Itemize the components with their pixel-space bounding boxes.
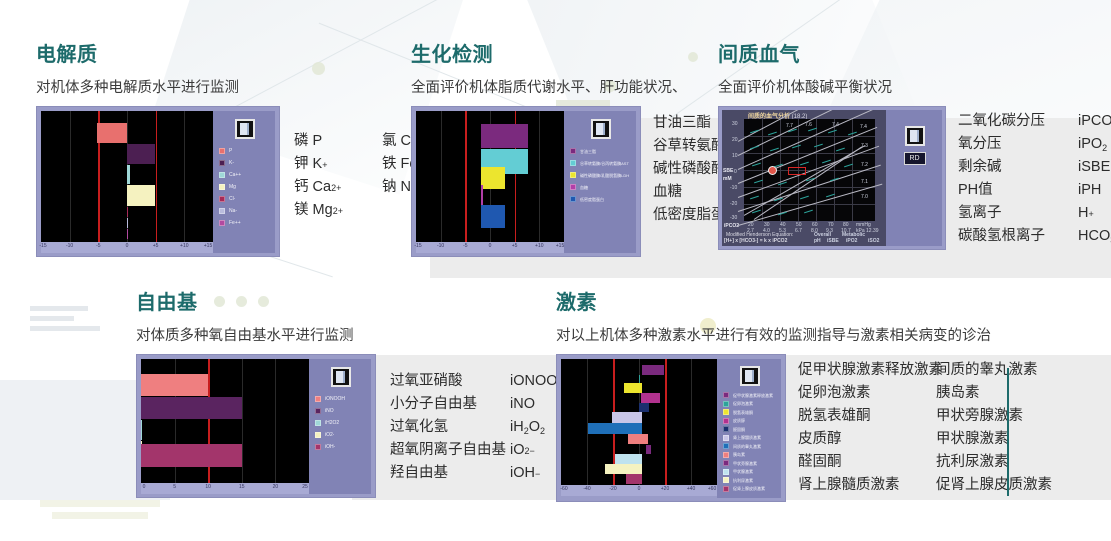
selection-rect[interactable]: [788, 167, 806, 175]
x-axis: -15 -10 -5 0 +5 +10 +15: [41, 242, 213, 253]
legend-swatch-LDL: [570, 196, 576, 202]
scatter-dash: [750, 130, 759, 134]
term-item: 间质的睾丸激素: [936, 359, 1052, 382]
legend-item[interactable]: 促甲状腺激素释放激素: [723, 392, 776, 398]
legend-label: Ca++: [229, 172, 241, 178]
y-tick: -30: [730, 215, 737, 221]
legend-label: iNO: [325, 408, 334, 414]
term-cn: 血糖: [653, 181, 682, 204]
y-tick: -20: [730, 201, 737, 207]
chart-legend: P K- Ca++ Mg Cl- Na- Fe++: [213, 111, 275, 253]
panel-free-radicals: 自由基 对体质多种氧自由基水平进行监测: [136, 286, 568, 498]
chart-legend: 甘油三脂 谷草转氨酶/谷丙转氨酶AST 碱性磷酸酶/乳酸脱氢酶LDH 血糖 低密…: [564, 111, 636, 253]
term-cn: 甲状腺激素: [936, 428, 1009, 451]
bar-P: [97, 123, 127, 143]
scatter-dash: [800, 196, 809, 200]
term-item: 碳酸氢根离子HCO3−: [958, 225, 1111, 248]
chart-legend: iONOOH iNO iH2O2 iO2- iOH-: [309, 359, 371, 494]
legend-swatch-AST: [570, 160, 576, 166]
x-kpa-last: 12.39: [866, 228, 879, 234]
axis-tick: +15: [556, 243, 564, 249]
legend-label: Cl-: [229, 196, 235, 202]
y-tick: 20: [732, 137, 738, 143]
reference-line-low: [465, 111, 467, 242]
term-code: H: [1078, 202, 1088, 225]
panel-biochemistry: 生化检测 全面评价机体脂质代谢水平、肝功能状况、: [411, 38, 740, 257]
bar-INS: [628, 434, 648, 444]
legend-label: 甲状腺激素: [733, 469, 753, 474]
term-code: iO: [510, 439, 525, 462]
chart-widget-biochemistry[interactable]: -15 -10 -5 0 +5 +10 +15 甘油三脂 谷草转氨酶/谷丙转氨酶…: [411, 106, 641, 257]
axis-tick: -10: [437, 243, 444, 249]
axis-tick: 10: [205, 484, 211, 490]
legend-label: 碱性磷酸酶/乳酸脱氢酶LDH: [580, 173, 629, 178]
legend-item[interactable]: iOH-: [315, 444, 366, 450]
document-icon[interactable]: [235, 119, 255, 139]
legend-label: 促甲状腺激素释放激素: [733, 393, 773, 398]
legend-label: iO2-: [325, 432, 334, 438]
legend-item[interactable]: 甲状腺激素: [723, 469, 776, 475]
bar-ACTH: [626, 474, 642, 484]
term-column: 间质的睾丸激素 胰岛素 甲状旁腺激素 甲状腺激素 抗利尿激素 促肾上腺皮质激素: [936, 359, 1052, 497]
term-item: 促卵泡激素: [798, 382, 936, 405]
panel-subtitle: 全面评价机体酸碱平衡状况: [718, 76, 1111, 97]
legend-label: 甘油三脂: [580, 149, 596, 154]
legend-swatch-Mg: [219, 184, 225, 190]
legend-item[interactable]: 谷草转氨酶/谷丙转氨酶AST: [570, 160, 631, 166]
term-item: 磷 P: [294, 130, 360, 153]
legend-item[interactable]: 碱性磷酸酶/乳酸脱氢酶LDH: [570, 172, 631, 178]
ph-isoline-up: [754, 146, 862, 219]
axis-tick: -10: [66, 243, 73, 249]
legend-item[interactable]: 抗利尿激素: [723, 477, 776, 483]
term-cn: 促肾上腺皮质激素: [936, 474, 1052, 497]
term-column: 磷 P 钾 K+ 钙 Ca2+ 镁 Mg2+: [294, 130, 360, 222]
term-cn: 肾上腺髓质激素: [798, 474, 900, 497]
axis-tick: 0: [638, 486, 641, 492]
term-code: Ca: [313, 176, 332, 199]
grid-line: [275, 359, 276, 483]
bar-DHEA: [624, 383, 642, 393]
term-cn: 皮质醇: [798, 428, 842, 451]
chart-legend: RD: [886, 110, 942, 246]
ph-label: 7.2: [861, 162, 868, 168]
term-code: Mg: [313, 199, 333, 222]
legend-label: 胰岛素: [733, 452, 745, 457]
scatter-dash: [804, 210, 813, 214]
legend-label: 血糖: [580, 185, 588, 190]
y-axis-label: SBE: [723, 168, 733, 174]
y-tick: 0: [734, 169, 737, 175]
grid-line: [441, 111, 442, 242]
legend-swatch-iNO: [315, 408, 321, 414]
ph-label: 7.7: [786, 123, 793, 129]
panel-title: 激素: [556, 286, 1052, 315]
axis-tick: +60: [708, 486, 716, 492]
axis-tick: 0: [126, 243, 129, 249]
term-list-free-radicals: 过氧亚硝酸iONOOH 小分子自由基iNO 过氧化氢iH2O2 超氧阴离子自由基…: [376, 354, 568, 485]
term-cn: 铁: [382, 153, 397, 176]
legend-item[interactable]: iO2-: [315, 432, 366, 438]
legend-item[interactable]: iNO: [315, 408, 366, 414]
bar-Na: [127, 218, 128, 228]
term-code: iSBE: [1078, 156, 1110, 179]
x-axis-label: iPCO2: [724, 223, 739, 229]
panel-electrolytes: 电解质 对机体多种电解质水平进行监测: [36, 38, 428, 257]
legend-item[interactable]: 甲状旁腺激素: [723, 460, 776, 466]
legend-swatch-TES: [723, 443, 729, 449]
bar-iONOOH: [141, 374, 208, 396]
axis-tick: 0: [143, 484, 146, 490]
axis-tick: +40: [687, 486, 695, 492]
document-icon[interactable]: [331, 367, 351, 387]
axis-tick: +20: [661, 486, 669, 492]
axis-tick: -5: [463, 243, 467, 249]
term-list-blood-gas: 二氧化碳分压iPCO2 氧分压iPO2 剩余碱iSBE PH值iPH 氢离子H+…: [946, 106, 1111, 248]
legend-label: P: [229, 148, 232, 154]
term-cn: 钙: [294, 176, 309, 199]
panel-title: 生化检测: [411, 38, 740, 67]
bar-GLU: [481, 185, 483, 205]
legend-swatch-GLU: [570, 184, 576, 190]
term-code: iH2O2: [510, 416, 545, 439]
y-tick: 30: [732, 121, 738, 127]
legend-item[interactable]: iH2O2: [315, 420, 366, 426]
document-icon[interactable]: [905, 126, 925, 146]
term-item: PH值iPH: [958, 179, 1111, 202]
bar-ALD: [639, 403, 649, 412]
term-cn: 过氧亚硝酸: [390, 370, 510, 393]
bar-iH2O2: [141, 420, 142, 440]
axis-tick: -40: [583, 486, 590, 492]
legend-label: 甲状旁腺激素: [733, 461, 757, 466]
term-cn: 小分子自由基: [390, 393, 510, 416]
legend-swatch-PTH: [723, 460, 729, 466]
bar-TRH: [642, 365, 664, 375]
legend-label: 低密度脂蛋白: [580, 197, 604, 202]
legend-label: 肾上腺髓质激素: [733, 435, 761, 440]
term-code: iOH: [510, 462, 535, 485]
term-cn: 氯: [382, 130, 397, 153]
term-cn: 脱氢表雄酮: [798, 405, 871, 428]
legend-swatch-ALP: [570, 172, 576, 178]
legend-swatch-FSH: [723, 401, 729, 407]
legend-swatch-P: [219, 148, 225, 154]
term-code: iPO: [1078, 133, 1102, 156]
document-icon[interactable]: [740, 366, 760, 386]
legend-swatch-ADM: [723, 435, 729, 441]
axis-tick: 15: [239, 484, 245, 490]
legend-label: Mg: [229, 184, 236, 190]
bar-ADH: [605, 464, 642, 474]
panel-body: -15 -10 -5 0 +5 +10 +15 P K- Ca++ Mg: [36, 106, 428, 257]
legend-label: K-: [229, 160, 234, 166]
legend-item[interactable]: iONOOH: [315, 396, 366, 402]
term-list-hormones: 促甲状腺激素释放激素 促卵泡激素 脱氢表雄酮 皮质醇 醛固酮 肾上腺髓质激素 间…: [786, 354, 1052, 497]
legend-swatch-Fe: [219, 220, 225, 226]
panel-subtitle: 对体质多种氧自由基水平进行监测: [136, 324, 568, 345]
bar-ADM: [612, 412, 642, 423]
panel-body: 间质的血气分析 (18.2) SBE mM 30 20 10 0 -10 -20…: [718, 106, 1111, 250]
legend-label: 促卵泡激素: [733, 401, 753, 406]
term-item: 脱氢表雄酮: [798, 405, 936, 428]
term-cn: 抗利尿激素: [936, 451, 1009, 474]
legend-swatch-iH2O2: [315, 420, 321, 426]
term-item: 镁 Mg2+: [294, 199, 360, 222]
value-header: iPO2: [846, 238, 857, 244]
term-cn: 胰岛素: [936, 382, 980, 405]
legend-swatch-TSH: [723, 469, 729, 475]
term-cn: 钾: [294, 153, 309, 176]
bar-Cl: [127, 207, 128, 217]
plot-area: -15 -10 -5 0 +5 +10 +15: [41, 111, 213, 253]
bar-TES: [588, 423, 642, 434]
term-item: 甲状腺激素: [936, 428, 1052, 451]
term-cn: 间质的睾丸激素: [936, 359, 1038, 382]
scatter-dash: [752, 163, 761, 167]
y-axis-unit: mM: [723, 176, 732, 182]
x-axis: 0 5 10 15 20 25: [141, 483, 309, 494]
term-cn: 剩余碱: [958, 156, 1078, 179]
bar-TG: [481, 124, 528, 148]
scatter-dash: [750, 196, 759, 200]
bar-plot: [141, 359, 309, 483]
bar-ALP: [481, 167, 505, 189]
legend-swatch-ALD: [723, 426, 729, 432]
legend-label: iOH-: [325, 444, 335, 450]
bar-plot: [41, 111, 213, 242]
legend-label: 谷草转氨酶/谷丙转氨酶AST: [580, 161, 629, 166]
rd-button[interactable]: RD: [904, 152, 926, 165]
term-item: 钾 K+: [294, 153, 360, 176]
legend-label: iH2O2: [325, 420, 339, 426]
legend-item[interactable]: Na-: [219, 208, 270, 214]
term-code: iPCO: [1078, 110, 1111, 133]
legend-item[interactable]: Cl-: [219, 196, 270, 202]
term-list-electrolytes: 磷 P 钾 K+ 钙 Ca2+ 镁 Mg2+ 氯 Cl− 铁 Fe2+ 钠 Na…: [280, 106, 428, 222]
legend-swatch-Cl: [219, 196, 225, 202]
term-item: 过氧亚硝酸iONOOH: [390, 370, 568, 393]
legend-swatch-COR: [723, 418, 729, 424]
legend-swatch-iOH: [315, 444, 321, 450]
axis-tick: +15: [204, 243, 212, 249]
equation-text: [H+] x [HCO3-] = k x iPCO2: [724, 238, 787, 244]
bar-plot: [416, 111, 564, 242]
axis-tick: 25: [302, 484, 308, 490]
term-item: 小分子自由基iNO: [390, 393, 568, 416]
bar-Fe: [127, 229, 128, 239]
term-cn: PH值: [958, 179, 1078, 202]
panel-body: 0 5 10 15 20 25 iONOOH iNO iH2O2 iO2- iO…: [136, 354, 568, 498]
legend-label: 脱氢表雄酮: [733, 410, 753, 415]
panel-hormones: 激素 对以上机体多种激素水平进行有效的监测指导与激素相关病变的诊治: [556, 286, 1052, 502]
ph-label: 7.4: [832, 122, 839, 128]
grid-line: [587, 359, 588, 485]
bar-Mg: [127, 185, 155, 206]
axis-tick: -20: [609, 486, 616, 492]
legend-label: 醛固酮: [733, 427, 745, 432]
term-code: P: [313, 130, 323, 153]
term-item: 肾上腺髓质激素: [798, 474, 936, 497]
legend-item[interactable]: 醛固酮: [723, 426, 776, 432]
plot-area: 0 5 10 15 20 25: [141, 359, 309, 494]
scatter-dash: [800, 162, 809, 166]
bar-COR: [641, 393, 660, 403]
term-item: 剩余碱iSBE: [958, 156, 1111, 179]
chart-legend: 促甲状腺激素释放激素 促卵泡激素 脱氢表雄酮 皮质醇 醛固酮 肾上腺髓质激素 间…: [717, 359, 781, 498]
legend-swatch-Na: [219, 208, 225, 214]
legend-item[interactable]: P: [219, 148, 270, 154]
term-item: 促肾上腺皮质激素: [936, 474, 1052, 497]
term-item: 胰岛素: [936, 382, 1052, 405]
value-header: pH: [814, 238, 821, 244]
bar-K: [127, 144, 155, 164]
panel-subtitle: 全面评价机体脂质代谢水平、肝功能状况、: [411, 76, 740, 97]
term-item: 羟自由基iOH−: [390, 462, 568, 485]
bar-iNO: [141, 397, 242, 419]
scatter-dash: [836, 148, 845, 152]
x-axis: -15 -10 -5 0 +5 +10 +15: [416, 242, 564, 253]
term-item: 醛固酮: [798, 451, 936, 474]
legend-swatch-Ca: [219, 172, 225, 178]
bar-PTH: [646, 445, 651, 454]
term-code: HCO: [1078, 225, 1110, 248]
term-cn: 磷: [294, 130, 309, 153]
term-cn: 碳酸氢根离子: [958, 225, 1078, 248]
term-cn: 钠: [382, 176, 397, 199]
term-column: 促甲状腺激素释放激素 促卵泡激素 脱氢表雄酮 皮质醇 醛固酮 肾上腺髓质激素: [798, 359, 936, 497]
term-item: 促甲状腺激素释放激素: [798, 359, 936, 382]
legend-swatch-INS: [723, 452, 729, 458]
panel-title: 自由基: [136, 286, 568, 315]
term-cn: 超氧阴离子自由基: [390, 439, 510, 462]
legend-item[interactable]: 促肾上腺皮质激素: [723, 486, 776, 492]
ph-label: 7.1: [861, 179, 868, 185]
legend-item[interactable]: K-: [219, 160, 270, 166]
ph-isoline: [738, 110, 875, 170]
bar-plot: [561, 359, 717, 485]
value-header: iSO2: [868, 238, 879, 244]
nomogram-plot: 7.7 7.6 7.4 7.4 7.3 7.2 7.1 7.0: [744, 119, 875, 221]
legend-swatch-DHEA: [723, 409, 729, 415]
legend-item[interactable]: Mg: [219, 184, 270, 190]
legend-item[interactable]: 皮质醇: [723, 418, 776, 424]
legend-label: Na-: [229, 208, 237, 214]
grid-line: [691, 359, 692, 485]
panel-body: -15 -10 -5 0 +5 +10 +15 甘油三脂 谷草转氨酶/谷丙转氨酶…: [411, 106, 740, 257]
blood-gas-nomogram: 间质的血气分析 (18.2) SBE mM 30 20 10 0 -10 -20…: [722, 110, 886, 246]
legend-item[interactable]: 间质的睾丸激素: [723, 443, 776, 449]
chart-widget-free-radicals[interactable]: 0 5 10 15 20 25 iONOOH iNO iH2O2 iO2- iO…: [136, 354, 376, 498]
y-tick: -10: [730, 185, 737, 191]
bar-iOH: [141, 444, 242, 467]
reference-line-high: [665, 359, 667, 485]
term-cn: 甘油三酯: [653, 112, 711, 135]
grid-line: [184, 111, 185, 242]
ph-label: 7.0: [861, 194, 868, 200]
legend-item[interactable]: 胰岛素: [723, 452, 776, 458]
chart-widget-hormones[interactable]: -60 -40 -20 0 +20 +40 +60 促甲状腺激素释放激素 促卵泡…: [556, 354, 786, 502]
panel-body: -60 -40 -20 0 +20 +40 +60 促甲状腺激素释放激素 促卵泡…: [556, 354, 1052, 502]
legend-swatch-K: [219, 160, 225, 166]
grid-line: [70, 111, 71, 242]
ph-label: 7.4: [860, 124, 867, 130]
axis-tick: 0: [489, 243, 492, 249]
term-code: K: [313, 153, 323, 176]
term-code: iPH: [1078, 179, 1101, 202]
document-icon[interactable]: [591, 119, 611, 139]
axis-tick: +5: [512, 243, 518, 249]
term-cn: 甲状旁腺激素: [936, 405, 1023, 428]
chart-widget-electrolytes[interactable]: -15 -10 -5 0 +5 +10 +15 P K- Ca++ Mg: [36, 106, 280, 257]
legend-label: Fe++: [229, 220, 241, 226]
legend-item[interactable]: Ca++: [219, 172, 270, 178]
plot-area: -15 -10 -5 0 +5 +10 +15: [416, 111, 564, 253]
axis-tick: -5: [96, 243, 100, 249]
legend-label: 皮质醇: [733, 418, 745, 423]
legend-label: iONOOH: [325, 396, 345, 402]
value-header: iSBE: [827, 238, 839, 244]
term-cn: 二氧化碳分压: [958, 110, 1078, 133]
legend-swatch-TG: [570, 148, 576, 154]
term-cn: 镁: [294, 199, 309, 222]
term-code: iNO: [510, 393, 535, 416]
plot-area: -60 -40 -20 0 +20 +40 +60: [561, 359, 717, 498]
term-cn: 促卵泡激素: [798, 382, 871, 405]
legend-item[interactable]: Fe++: [219, 220, 270, 226]
bar-TSH: [615, 454, 642, 464]
legend-item[interactable]: 血糖: [570, 184, 631, 190]
current-point-marker: [768, 166, 777, 175]
legend-item[interactable]: 脱氢表雄酮: [723, 409, 776, 415]
right-accent-rule: [1007, 368, 1009, 496]
term-cn: 醛固酮: [798, 451, 842, 474]
legend-item[interactable]: 促卵泡激素: [723, 401, 776, 407]
term-column: 二氧化碳分压iPCO2 氧分压iPO2 剩余碱iSBE PH值iPH 氢离子H+…: [958, 110, 1111, 248]
legend-swatch-TRH: [723, 392, 729, 398]
term-cn: 羟自由基: [390, 462, 510, 485]
term-item: 二氧化碳分压iPCO2: [958, 110, 1111, 133]
legend-item[interactable]: 甘油三脂: [570, 148, 631, 154]
panel-title: 间质血气: [718, 38, 1111, 67]
term-item: 过氧化氢iH2O2: [390, 416, 568, 439]
chart-widget-blood-gas[interactable]: 间质的血气分析 (18.2) SBE mM 30 20 10 0 -10 -20…: [718, 106, 946, 250]
axis-tick: 20: [273, 484, 279, 490]
term-item: 甲状旁腺激素: [936, 405, 1052, 428]
term-item: 皮质醇: [798, 428, 936, 451]
bg-hatch-1: [30, 306, 88, 311]
legend-swatch-iO2: [315, 432, 321, 438]
term-column: 过氧亚硝酸iONOOH 小分子自由基iNO 过氧化氢iH2O2 超氧阴离子自由基…: [390, 370, 568, 485]
legend-label: 促肾上腺皮质激素: [733, 486, 765, 491]
term-item: 氢离子H+: [958, 202, 1111, 225]
axis-tick: -15: [39, 243, 46, 249]
term-cn: 促甲状腺激素释放激素: [798, 359, 943, 382]
grid-line: [539, 111, 540, 242]
ph-label: 7.6: [805, 122, 812, 128]
legend-item[interactable]: 肾上腺髓质激素: [723, 435, 776, 441]
term-item: 抗利尿激素: [936, 451, 1052, 474]
bar-Ca: [127, 165, 130, 184]
legend-swatch-iONOOH: [315, 396, 321, 402]
axis-tick: +10: [535, 243, 543, 249]
panel-blood-gas: 间质血气 全面评价机体酸碱平衡状况 间质的血气分析 (18.2) SBE mM …: [718, 38, 1111, 250]
legend-item[interactable]: 低密度脂蛋白: [570, 196, 631, 202]
axis-tick: +10: [180, 243, 188, 249]
slide-canvas: 电解质 对机体多种电解质水平进行监测: [0, 0, 1111, 541]
term-cn: 氧分压: [958, 133, 1078, 156]
x-axis: -60 -40 -20 0 +20 +40 +60: [561, 485, 717, 496]
